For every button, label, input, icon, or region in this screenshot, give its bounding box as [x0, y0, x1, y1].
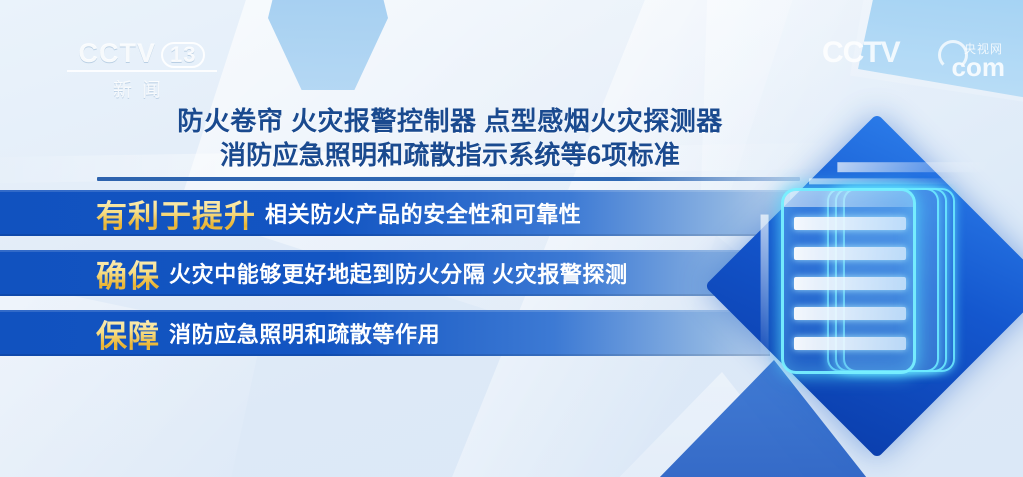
diamond-streak-3: [761, 215, 769, 365]
headline-line-2: 消防应急照明和疏散指示系统等6项标准: [95, 138, 805, 172]
message-bar-1-lead: 有利于提升: [96, 191, 265, 236]
document-text-line: [794, 307, 906, 320]
document-text-line: [794, 337, 906, 350]
bg-hexagon-small: [268, 0, 388, 90]
message-bar-3-text: 消防应急照明和疏散等作用: [169, 317, 440, 349]
message-bar-3: 保障 消防应急照明和疏散等作用: [0, 310, 770, 356]
document-front-icon: [781, 188, 916, 374]
document-text-line: [794, 247, 906, 260]
message-bar-1: 有利于提升 相关防火产品的安全性和可靠性: [0, 190, 790, 236]
cctv-dot-com-watermark: CCTV 央视网 com: [822, 38, 1007, 83]
document-text-line: [794, 217, 906, 230]
document-header-bar: [784, 191, 913, 207]
document-stack-graphic: [733, 148, 1023, 477]
cctv-logo-rule: [67, 70, 217, 72]
cctv-logo-text: CCTV: [79, 38, 157, 68]
cctv-channel-number: 13: [161, 42, 205, 68]
diamond-streak-2: [809, 178, 959, 184]
watermark-com-text: com: [952, 54, 1005, 80]
message-bar-2: 确保 火灾中能够更好地起到防火分隔 火灾报警探测: [0, 250, 800, 296]
cctv-logo-mark: CCTV13: [62, 40, 222, 68]
broadcast-graphic-slate: CCTV13 新闻 CCTV 央视网 com 防火卷帘 火灾报警控制器 点型感烟…: [0, 0, 1023, 477]
cctv-logo-cn-label: 新闻: [62, 75, 222, 102]
message-bar-2-text: 火灾中能够更好地起到防火分隔 火灾报警探测: [169, 257, 628, 289]
diamond-streak-1: [837, 162, 987, 172]
message-bar-1-text: 相关防火产品的安全性和可靠性: [265, 197, 581, 229]
document-text-line: [794, 277, 906, 290]
headline-underline: [97, 177, 800, 181]
cctv13-channel-logo: CCTV13 新闻: [62, 40, 222, 96]
headline-block: 防火卷帘 火灾报警控制器 点型感烟火灾探测器 消防应急照明和疏散指示系统等6项标…: [95, 104, 805, 173]
headline-line-1: 防火卷帘 火灾报警控制器 点型感烟火灾探测器: [95, 104, 805, 138]
message-bar-2-lead: 确保: [96, 251, 169, 296]
message-bar-3-lead: 保障: [96, 311, 169, 356]
bg-wedge-left: [0, 269, 261, 477]
